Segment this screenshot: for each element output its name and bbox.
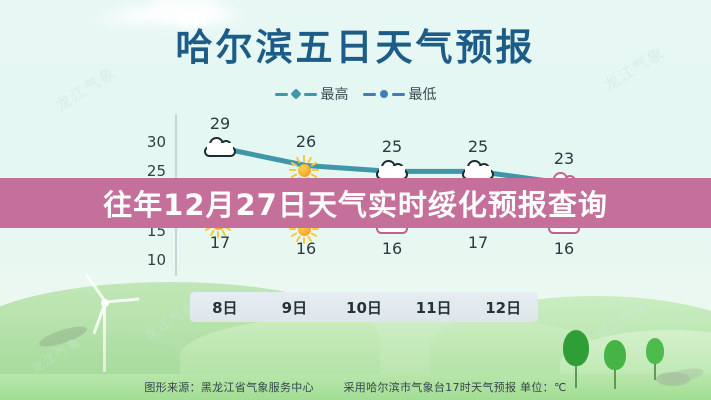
legend-circle-icon xyxy=(380,90,388,98)
overlay-banner-text: 往年12月27日天气实时绥化预报查询 xyxy=(103,182,608,224)
low-temp-label: 17 xyxy=(468,233,488,252)
legend-line-icon xyxy=(392,93,405,96)
date-label-4: 11日 xyxy=(399,297,469,318)
date-label-5: 12日 xyxy=(468,297,538,318)
overlay-banner: 往年12月27日天气实时绥化预报查询 xyxy=(0,178,711,228)
footer-unit-note: 采用哈尔滨市气象台17时天气预报 单位：℃ xyxy=(343,381,566,394)
sky-cloud-decoration xyxy=(175,10,209,26)
date-label-3: 10日 xyxy=(329,297,399,318)
high-temp-label: 25 xyxy=(468,137,488,156)
legend-item-high: 最高 xyxy=(275,84,349,104)
wind-turbine-hub xyxy=(101,299,109,307)
legend-item-low: 最低 xyxy=(363,84,437,104)
legend-diamond-icon xyxy=(290,88,301,99)
weather-forecast-infographic: 龙江气象 龙江气象 龙江气象 龙江气象 龙江气象 哈尔滨五日天气预报 最高最低 … xyxy=(0,0,711,400)
footer-note: 图形来源：黑龙江省气象服务中心 采用哈尔滨市气象台17时天气预报 单位：℃ xyxy=(0,379,711,395)
legend-label: 最高 xyxy=(321,84,349,104)
page-title: 哈尔滨五日天气预报 xyxy=(0,26,711,70)
sky-cloud-decoration xyxy=(96,12,144,26)
y-axis-tick: 10 xyxy=(147,251,166,269)
date-label-1: 8日 xyxy=(190,297,260,318)
date-axis-row: 8日9日10日11日12日 xyxy=(190,292,538,322)
sun-icon xyxy=(289,155,323,177)
cloud-icon xyxy=(203,137,237,159)
low-temp-label: 16 xyxy=(554,239,574,258)
chart-legend: 最高最低 xyxy=(0,84,711,104)
legend-line-icon xyxy=(275,93,288,96)
low-temp-label: 17 xyxy=(210,233,230,252)
high-temp-label: 29 xyxy=(210,114,230,133)
low-temp-label: 16 xyxy=(382,239,402,258)
date-label-2: 9日 xyxy=(260,297,330,318)
y-axis-tick: 30 xyxy=(147,133,166,151)
legend-label: 最低 xyxy=(409,84,437,104)
high-temp-label: 26 xyxy=(296,132,316,151)
high-temp-label: 25 xyxy=(382,137,402,156)
low-temp-label: 16 xyxy=(296,239,316,258)
footer-source: 图形来源：黑龙江省气象服务中心 xyxy=(144,381,314,394)
high-temp-label: 23 xyxy=(554,149,574,168)
legend-line-icon xyxy=(304,93,317,96)
legend-line-icon xyxy=(363,93,376,96)
